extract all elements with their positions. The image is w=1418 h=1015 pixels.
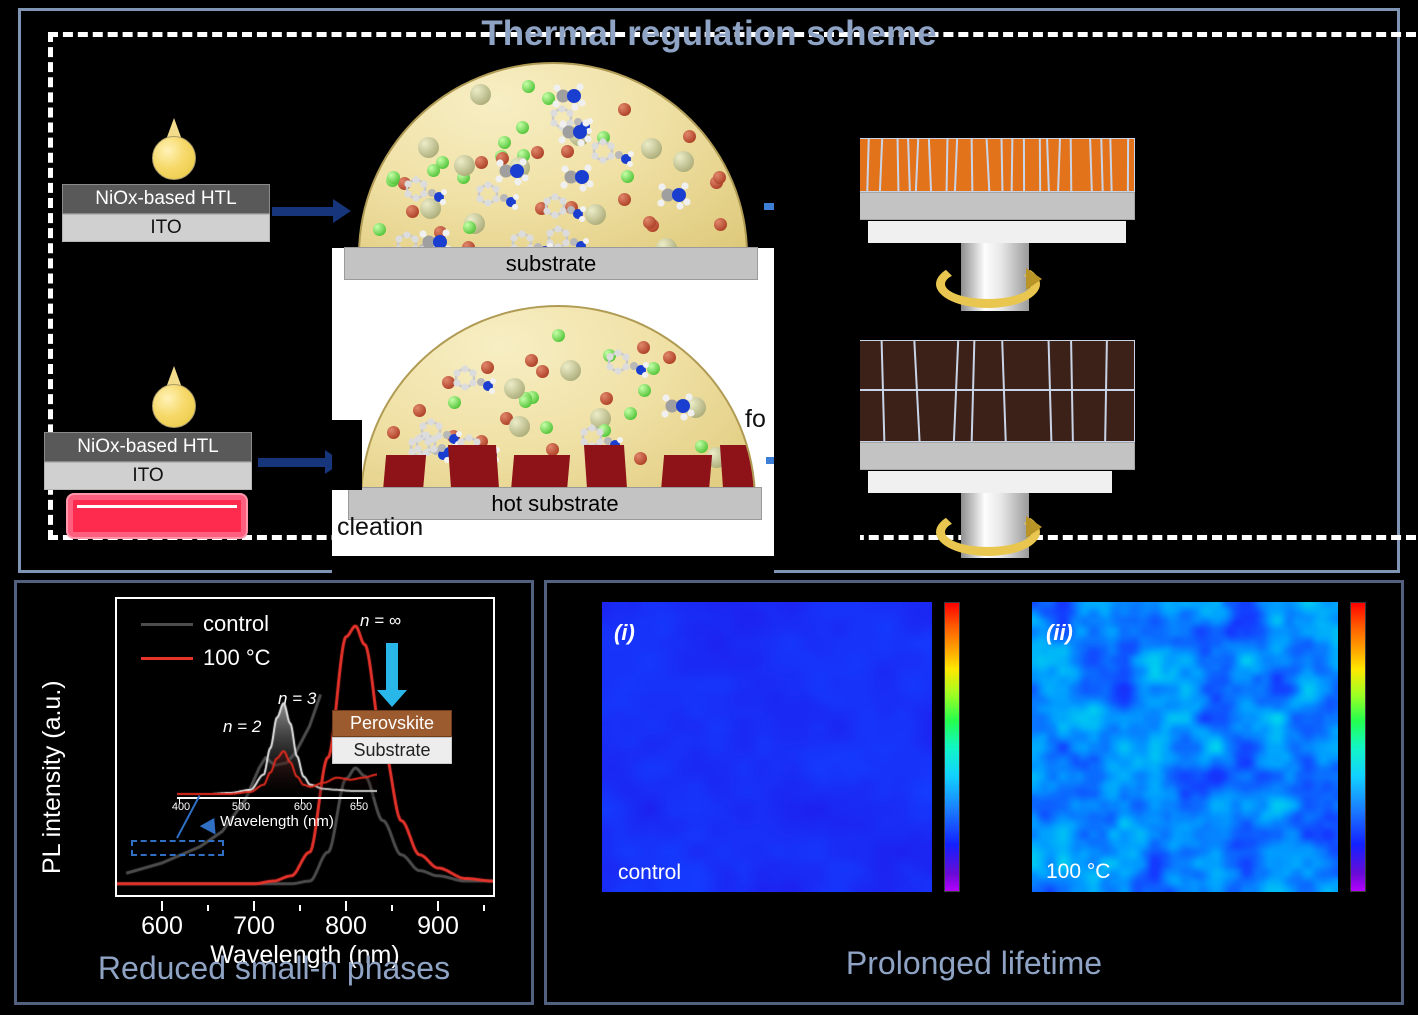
methylammonium-molecule <box>492 156 532 191</box>
bromide-ion <box>475 156 488 169</box>
zoom-region-box <box>131 840 224 856</box>
grain-boundary <box>1057 139 1061 192</box>
lead-ion <box>454 155 475 176</box>
mask-bottom <box>332 556 774 578</box>
grain-boundary <box>1070 139 1073 192</box>
grain-boundary <box>1100 139 1103 192</box>
bromide-ion <box>387 426 400 439</box>
jet-colorbar-icon-right <box>1350 602 1366 892</box>
htl-layer-label: NiOx-based HTL <box>62 184 270 214</box>
xtick-600: 600 <box>141 912 183 941</box>
grain-boundary <box>881 341 886 442</box>
xtick-800: 800 <box>325 912 367 941</box>
ito-layer-label-bottom: ITO <box>44 462 252 490</box>
inset-xtick-2: 500 <box>232 801 250 813</box>
jet-colorbar-icon-left <box>944 602 960 892</box>
legend-label-control: control <box>203 611 269 637</box>
mask-right <box>774 112 860 558</box>
grain-boundary <box>1089 139 1093 192</box>
phenethylammonium-molecule <box>400 173 448 214</box>
grain-boundary <box>1104 341 1108 442</box>
grain-boundary <box>954 139 958 192</box>
lead-ion <box>641 138 662 159</box>
grain-boundary <box>986 139 991 192</box>
spin-coater-plate-bottom <box>868 471 1112 493</box>
legend-line-100c <box>141 657 193 660</box>
chloride-ion <box>522 80 535 93</box>
methylammonium-molecule <box>555 117 595 152</box>
formation-label: fo <box>745 405 766 434</box>
bromide-ion <box>536 365 549 378</box>
bromide-ion <box>663 351 676 364</box>
lead-ion <box>470 84 491 105</box>
nucleation-label: cleation <box>337 513 423 542</box>
lead-ion <box>673 151 694 172</box>
chloride-ion <box>498 136 511 149</box>
bromide-ion <box>714 218 727 231</box>
substrate-bar-control: substrate <box>344 247 758 280</box>
inset-xtick-4: 650 <box>350 801 368 813</box>
scheme-title: Thermal regulation scheme <box>0 14 1418 54</box>
pl-map-name-control: control <box>618 861 681 885</box>
film-substrate-top <box>856 192 1135 220</box>
chloride-ion <box>552 329 565 342</box>
panel-left-caption: Reduced small-n phases <box>14 950 534 987</box>
spin-arrow-head-top <box>1026 268 1042 290</box>
perovskite-film-hot <box>856 340 1135 470</box>
htl-ito-stack-bottom: NiOx-based HTL ITO <box>44 432 252 490</box>
pl-map-name-100c: 100 °C <box>1046 860 1110 884</box>
xtick-900: 900 <box>417 912 459 941</box>
navy-arrow-right-icon <box>272 207 334 216</box>
phenethylammonium-molecule <box>449 362 497 403</box>
grain-boundary <box>879 139 883 192</box>
pl-spectrum-plot: control 100 °C n = ∞ n = 3 n = 2 400 500… <box>115 597 495 897</box>
bromide-ion <box>618 193 631 206</box>
grain-boundary <box>1046 139 1050 192</box>
grain-boundary <box>1127 139 1129 192</box>
grain-boundary <box>897 139 900 192</box>
ito-layer-label: ITO <box>62 214 270 242</box>
pl-xaxis-ticks <box>115 897 495 911</box>
methylammonium-molecule <box>654 180 694 215</box>
grain-boundary <box>907 139 911 192</box>
grain-boundary <box>1109 139 1112 192</box>
perovskite-layer-label: Perovskite <box>332 710 452 737</box>
chloride-ion <box>387 171 400 184</box>
legend-label-100c: 100 °C <box>203 645 271 671</box>
spin-rotation-arrow-icon-top <box>936 260 1040 308</box>
grain-boundary <box>953 341 959 442</box>
bromide-ion <box>531 146 544 159</box>
grain-boundary <box>1023 139 1025 192</box>
bromide-ion <box>618 103 631 116</box>
chloride-ion <box>540 421 553 434</box>
bromide-ion <box>600 392 613 405</box>
grain-boundary <box>1001 139 1004 192</box>
cyan-down-arrow-icon <box>386 643 398 691</box>
grain-boundary <box>866 139 870 192</box>
grain-boundary <box>946 139 949 192</box>
grain-boundary <box>1070 341 1074 442</box>
grain-boundary <box>1001 341 1007 442</box>
chloride-ion <box>373 223 386 236</box>
xtick-700: 700 <box>233 912 275 941</box>
spin-rotation-arrow-icon-bottom <box>936 508 1040 556</box>
pl-map-tag-ii: (ii) <box>1046 620 1073 646</box>
phenethylammonium-molecule <box>602 346 650 387</box>
bromide-ion <box>525 354 538 367</box>
phenethylammonium-molecule <box>539 190 587 231</box>
film-substrate-bottom <box>856 442 1135 470</box>
grain-boundary <box>928 139 932 192</box>
annotation-n-infinity: n = ∞ <box>360 611 401 631</box>
bromide-ion <box>634 452 647 465</box>
grain-boundary <box>915 139 919 192</box>
perovskite-substrate-legend: Perovskite Substrate <box>332 710 452 764</box>
htl-ito-stack-top: NiOx-based HTL ITO <box>62 184 270 242</box>
grain-boundary <box>913 341 920 442</box>
grain-boundary <box>971 341 976 442</box>
pl-map-tag-i: (i) <box>614 620 635 646</box>
htl-layer-label-bottom: NiOx-based HTL <box>44 432 252 462</box>
mask-left <box>332 420 362 490</box>
methylammonium-molecule <box>549 81 589 116</box>
grain-boundary <box>971 139 974 192</box>
pl-map-control <box>602 602 932 892</box>
grain-boundary <box>1048 341 1053 442</box>
panel-right-caption: Prolonged lifetime <box>544 945 1404 982</box>
precursor-droplet-icon <box>152 118 196 180</box>
precursor-droplet-icon-bottom <box>152 366 196 428</box>
methylammonium-molecule <box>658 391 698 426</box>
chloride-ion <box>516 121 529 134</box>
grain-boundary <box>1011 139 1014 192</box>
bromide-ion <box>683 130 696 143</box>
lead-ion <box>418 137 439 158</box>
substrate-layer-label: Substrate <box>332 737 452 764</box>
spin-coater-plate-top <box>868 221 1126 243</box>
spin-arrow-head-bottom <box>1026 516 1042 538</box>
grain-boundary <box>857 389 1135 391</box>
inset-xtick-3: 600 <box>294 801 312 813</box>
inset-xtick-1: 400 <box>172 801 190 813</box>
navy-arrow-right-icon-bottom <box>258 458 326 467</box>
chloride-ion <box>519 395 532 408</box>
chloride-ion <box>695 440 708 453</box>
pl-map-100c <box>1032 602 1338 892</box>
legend-line-control <box>141 623 193 626</box>
grain-boundary <box>1039 139 1041 192</box>
perovskite-film-control <box>856 138 1135 220</box>
chloride-ion <box>624 407 637 420</box>
bromide-ion <box>713 171 726 184</box>
lead-ion <box>560 360 581 381</box>
hotplate-icon <box>68 495 246 537</box>
lead-ion <box>509 416 530 437</box>
